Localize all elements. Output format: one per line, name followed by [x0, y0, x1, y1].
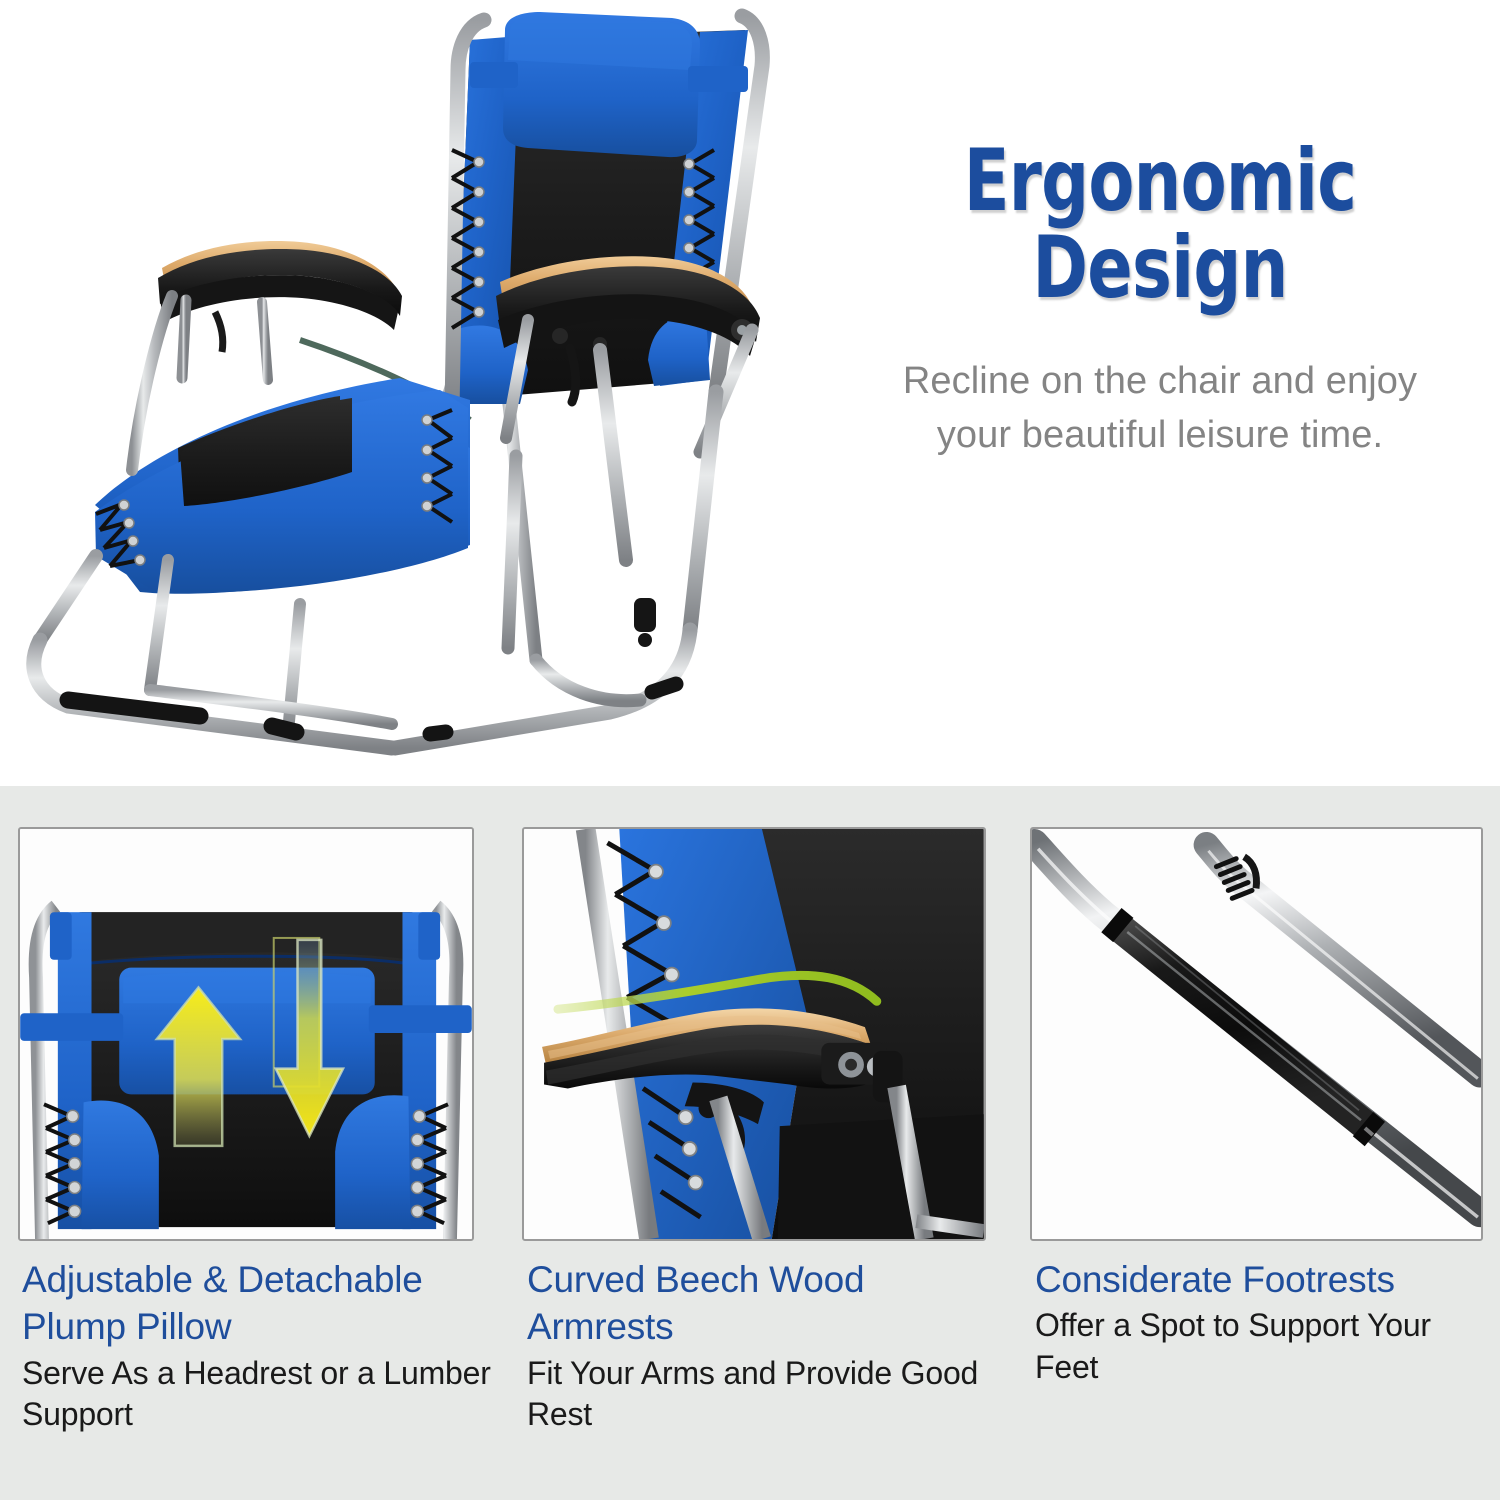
hero-subtitle: Recline on the chair and enjoy your beau…: [840, 355, 1480, 463]
title-line-2: Design: [910, 227, 1409, 310]
hero-section: Ergonomic Design Recline on the chair an…: [0, 0, 1500, 786]
feature-desc-2: Fit Your Arms and Provide Good Rest: [527, 1353, 987, 1436]
feature-panel-row: [0, 827, 1500, 1241]
feature-caption-1: Adjustable & Detachable Plump Pillow Ser…: [22, 1256, 492, 1436]
feature-image-pillow: [18, 827, 474, 1241]
feature-image-armrest: [522, 827, 986, 1241]
feature-title-1: Adjustable & Detachable Plump Pillow: [22, 1256, 492, 1351]
feature-caption-2: Curved Beech Wood Armrests Fit Your Arms…: [527, 1256, 987, 1436]
feature-title-3: Considerate Footrests: [1035, 1256, 1495, 1303]
features-section: Adjustable & Detachable Plump Pillow Ser…: [0, 786, 1500, 1500]
feature-image-footrest: [1030, 827, 1483, 1241]
page-title: Ergonomic Design: [910, 140, 1409, 309]
hero-copy: Ergonomic Design Recline on the chair an…: [840, 140, 1480, 463]
title-line-1: Ergonomic: [910, 140, 1409, 223]
feature-caption-3: Considerate Footrests Offer a Spot to Su…: [1035, 1256, 1495, 1389]
feature-desc-3: Offer a Spot to Support Your Feet: [1035, 1305, 1495, 1388]
feature-title-2: Curved Beech Wood Armrests: [527, 1256, 987, 1351]
product-image-main: [0, 0, 800, 786]
feature-desc-1: Serve As a Headrest or a Lumber Support: [22, 1353, 492, 1436]
